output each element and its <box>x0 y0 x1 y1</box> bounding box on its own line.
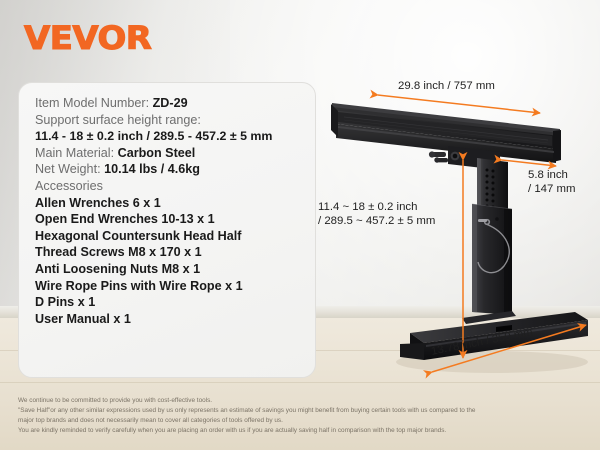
accessory-item: Hexagonal Countersunk Head Half <box>35 228 301 245</box>
accessory-item: D Pins x 1 <box>35 294 301 311</box>
spec-label-material: Main Material: <box>35 146 118 160</box>
dimension-height-line2: / 289.5 ~ 457.2 ± 5 mm <box>318 214 435 228</box>
accessory-item: Thread Screws M8 x 170 x 1 <box>35 244 301 261</box>
spec-row-height-label: Support surface height range: <box>35 112 301 129</box>
spec-row-material: Main Material: Carbon Steel <box>35 145 301 162</box>
spec-row-weight: Net Weight: 10.14 lbs / 4.6kg <box>35 161 301 178</box>
spec-label-model: Item Model Number: <box>35 96 153 110</box>
disclaimer-line-1: We continue to be committed to provide y… <box>18 396 588 406</box>
dimension-depth-line2: / 147 mm <box>528 182 575 196</box>
spec-row-height-value: 11.4 - 18 ± 0.2 inch / 289.5 - 457.2 ± 5… <box>35 128 301 145</box>
spec-label-height: Support surface height range: <box>35 113 201 127</box>
accessories-heading: Accessories <box>35 178 301 195</box>
specification-card: Item Model Number: ZD-29 Support surface… <box>18 82 316 378</box>
accessory-item: Allen Wrenches 6 x 1 <box>35 195 301 212</box>
dimension-depth-line1: 5.8 inch <box>528 168 575 182</box>
vevor-logo: VEVOR <box>24 19 151 57</box>
spec-value-model: ZD-29 <box>153 96 188 110</box>
dimension-label-height: 11.4 ~ 18 ± 0.2 inch / 289.5 ~ 457.2 ± 5… <box>318 200 435 228</box>
accessory-item: User Manual x 1 <box>35 311 301 328</box>
spec-value-material: Carbon Steel <box>118 146 196 160</box>
dimension-label-top-width: 29.8 inch / 757 mm <box>398 79 495 93</box>
disclaimer-footer: We continue to be committed to provide y… <box>18 396 588 436</box>
dimension-height-line1: 11.4 ~ 18 ± 0.2 inch <box>318 200 435 214</box>
spec-value-weight: 10.14 lbs / 4.6kg <box>104 162 200 176</box>
disclaimer-line-2: "Save Half"or any other similar expressi… <box>18 406 588 416</box>
accessory-item: Anti Loosening Nuts M8 x 1 <box>35 261 301 278</box>
floor-seam <box>0 382 600 383</box>
accessory-item: Wire Rope Pins with Wire Rope x 1 <box>35 278 301 295</box>
dimension-label-depth: 5.8 inch / 147 mm <box>528 168 575 196</box>
disclaimer-line-3: major top brands and does not necessaril… <box>18 416 588 426</box>
disclaimer-line-4: You are kindly reminded to verify carefu… <box>18 426 588 436</box>
product-spec-image: VEVOR Item Model Number: ZD-29 Support s… <box>0 0 600 450</box>
accessory-item: Open End Wrenches 10-13 x 1 <box>35 211 301 228</box>
spec-row-model: Item Model Number: ZD-29 <box>35 95 301 112</box>
spec-label-weight: Net Weight: <box>35 162 104 176</box>
